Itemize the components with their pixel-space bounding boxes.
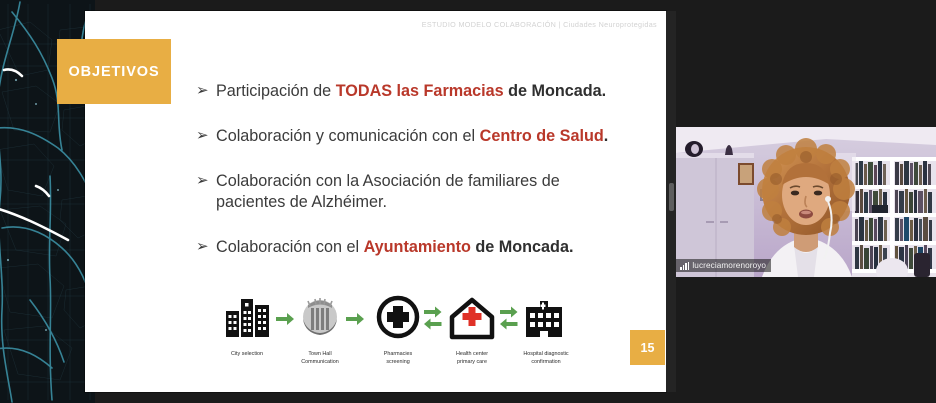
text-run: Colaboración con la Asociación de famili…: [216, 172, 560, 211]
list-item-text: Colaboración con el Ayuntamiento de Monc…: [216, 237, 573, 258]
page-number-text: 15: [641, 341, 655, 355]
video-frame: [676, 127, 936, 277]
bullet-arrow-icon: ➢: [196, 126, 216, 145]
arrow-bidirectional-icon: [424, 307, 442, 330]
participant-name: lucreciamorenoroyo: [692, 261, 766, 270]
diagram-caption: Health center: [456, 351, 488, 357]
bullet-arrow-icon: ➢: [196, 237, 216, 256]
text-run-highlight: Ayuntamiento: [364, 238, 471, 256]
diagram-caption: Pharmacies: [384, 351, 413, 357]
diagram-caption: confirmation: [531, 359, 560, 365]
text-run: Colaboración y comunicación con el: [216, 127, 480, 145]
list-item: ➢ Colaboración con la Asociación de fami…: [196, 171, 616, 213]
video-participant-tile[interactable]: [676, 127, 936, 277]
list-item-text: Colaboración con la Asociación de famili…: [216, 171, 616, 213]
health-center-icon: [452, 300, 492, 337]
buildings-icon: [226, 299, 269, 337]
process-flow-diagram: City selection Town Hall Communication P…: [220, 283, 570, 381]
diagram-caption: Communication: [301, 359, 338, 365]
pharmacy-cross-icon: [379, 298, 417, 336]
list-item-text: Participación de TODAS las Farmacias de …: [216, 81, 606, 102]
diagram-caption: Town Hall: [308, 351, 331, 357]
list-item: ➢ Colaboración con el Ayuntamiento de Mo…: [196, 237, 616, 258]
text-run-highlight: TODAS las Farmacias: [336, 82, 504, 100]
hospital-icon: [526, 301, 562, 337]
list-item: ➢ Participación de TODAS las Farmacias d…: [196, 81, 616, 102]
arrow-bidirectional-icon: [500, 307, 518, 330]
bullet-arrow-icon: ➢: [196, 171, 216, 190]
list-item-text: Colaboración y comunicación con el Centr…: [216, 126, 608, 147]
arrow-right-icon: [276, 313, 294, 325]
diagram-caption: City selection: [231, 351, 263, 357]
text-run: Colaboración con el: [216, 238, 364, 256]
participant-name-plate: lucreciamorenoroyo: [676, 259, 771, 272]
presentation-slide[interactable]: ESTUDIO MODELO COLABORACIÓN | Ciudades N…: [85, 11, 666, 392]
section-title-tab: OBJETIVOS: [57, 39, 171, 104]
text-run: Participación de: [216, 82, 336, 100]
bullet-list: ➢ Participación de TODAS las Farmacias d…: [196, 81, 616, 282]
text-run-highlight: Centro de Salud: [480, 127, 604, 145]
arrow-right-icon: [346, 313, 364, 325]
bullet-arrow-icon: ➢: [196, 81, 216, 100]
diagram-caption: screening: [386, 359, 409, 365]
slide-header-text: ESTUDIO MODELO COLABORACIÓN | Ciudades N…: [422, 20, 657, 29]
page-number-badge: 15: [630, 330, 665, 365]
diagram-caption: primary care: [457, 359, 487, 365]
scrollbar-handle[interactable]: [669, 183, 674, 211]
text-run-bold: .: [604, 127, 609, 145]
text-run-bold: de Moncada.: [471, 238, 574, 256]
signal-bars-icon: [680, 262, 689, 270]
section-title-text: OBJETIVOS: [68, 64, 159, 80]
town-hall-crest-icon: [303, 298, 337, 335]
text-run-bold: de Moncada.: [504, 82, 607, 100]
diagram-caption: Hospital diagnostic: [523, 351, 569, 357]
list-item: ➢ Colaboración y comunicación con el Cen…: [196, 126, 616, 147]
